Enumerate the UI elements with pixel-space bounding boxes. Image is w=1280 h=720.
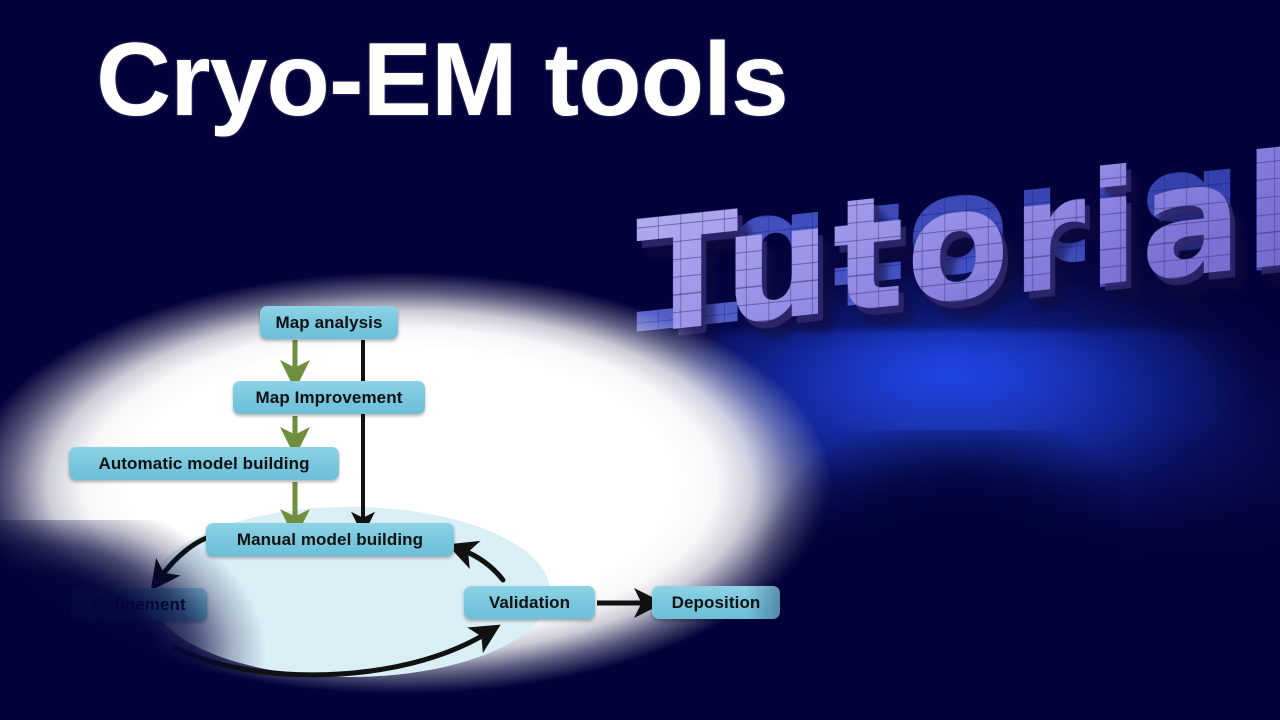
node-automatic-model-building-label: Automatic model building	[98, 454, 309, 474]
node-validation-label: Validation	[489, 593, 570, 613]
node-map-analysis[interactable]: Map analysis	[260, 306, 398, 339]
edge-validation-to-manual-model-building	[462, 550, 503, 580]
left-bottom-navy-fade	[0, 520, 340, 720]
node-automatic-model-building[interactable]: Automatic model building	[69, 447, 339, 480]
node-map-improvement-label: Map Improvement	[256, 388, 403, 408]
node-map-improvement[interactable]: Map Improvement	[233, 381, 425, 414]
slide-canvas: Tutorial Tutorial	[0, 0, 1280, 720]
page-title: Cryo-EM tools	[96, 28, 788, 132]
right-navy-fade	[700, 430, 1120, 720]
node-map-analysis-label: Map analysis	[275, 313, 382, 333]
node-validation[interactable]: Validation	[464, 586, 595, 619]
